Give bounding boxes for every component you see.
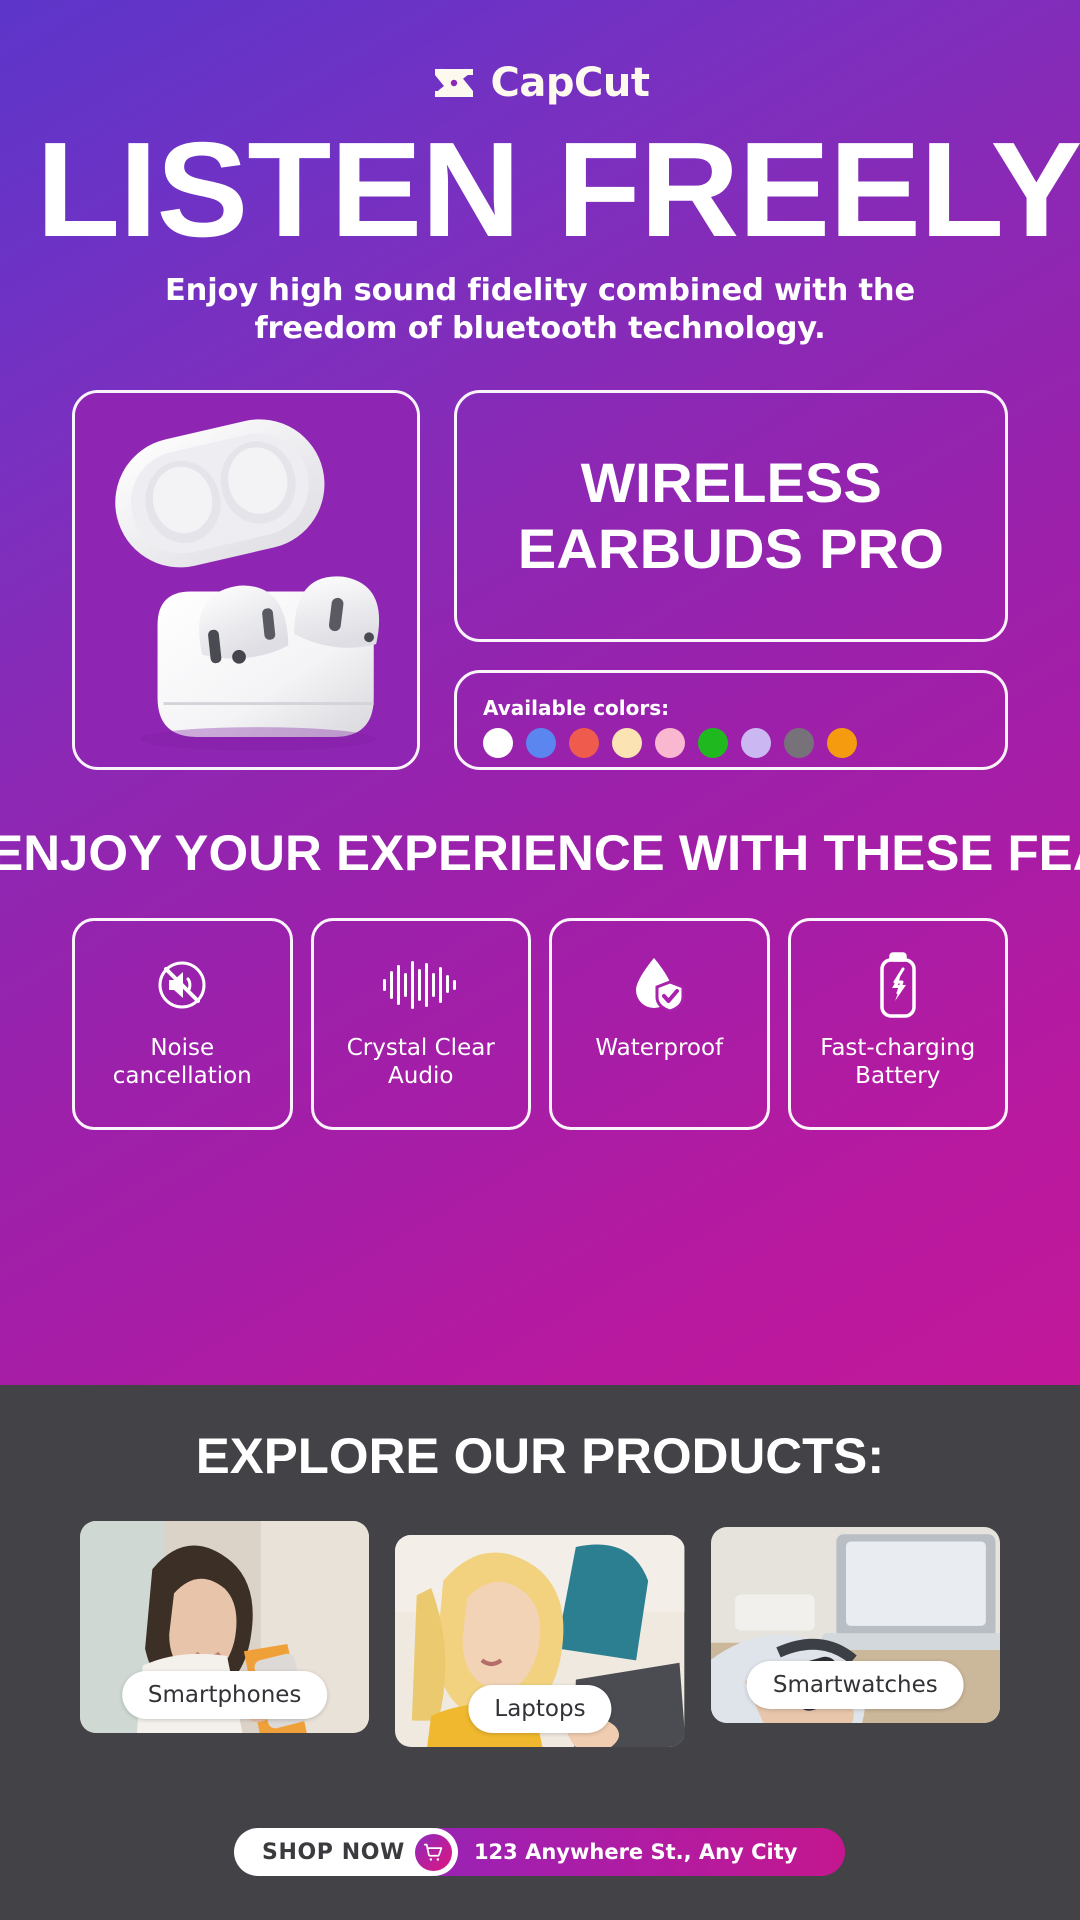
product-card-smartphones[interactable]: Smartphones bbox=[80, 1521, 369, 1733]
color-swatch-green[interactable] bbox=[698, 728, 728, 758]
shop-now-label: SHOP NOW bbox=[262, 1840, 405, 1865]
store-address: 123 Anywhere St., Any City bbox=[474, 1840, 798, 1864]
shopping-cart-icon bbox=[415, 1834, 452, 1871]
available-colors-card: Available colors: bbox=[454, 670, 1008, 770]
feature-card-0: Noisecancellation bbox=[72, 918, 293, 1130]
hero-subtitle: Enjoy high sound fidelity combined with … bbox=[160, 272, 920, 348]
product-title-line1: WIRELESS bbox=[580, 453, 881, 513]
water-drop-shield-icon bbox=[626, 951, 692, 1019]
features-title: ENJOY YOUR EXPERIENCE WITH THESE FEATURE… bbox=[0, 824, 1080, 882]
explore-section: EXPLORE OUR PRODUCTS: Smartphones Laptop… bbox=[0, 1385, 1080, 1920]
hero-section: CapCut LISTEN FREELY Enjoy high sound fi… bbox=[0, 0, 1080, 1385]
feature-label: Crystal ClearAudio bbox=[339, 1035, 503, 1090]
color-swatch-cream[interactable] bbox=[612, 728, 642, 758]
poster: CapCut LISTEN FREELY Enjoy high sound fi… bbox=[0, 0, 1080, 1920]
product-image-card bbox=[72, 390, 420, 770]
product-title-line2: EARBUDS PRO bbox=[518, 519, 944, 579]
product-card-smartwatches[interactable]: Smartwatches bbox=[711, 1527, 1000, 1723]
product-card-laptops[interactable]: Laptops bbox=[395, 1535, 684, 1747]
feature-label: Fast-chargingBattery bbox=[812, 1035, 983, 1090]
color-swatch-lavender[interactable] bbox=[741, 728, 771, 758]
shop-now-button[interactable]: SHOP NOW bbox=[234, 1828, 458, 1876]
audio-waveform-icon bbox=[381, 951, 461, 1019]
feature-card-2: Waterproof bbox=[549, 918, 770, 1130]
color-swatch-list bbox=[483, 728, 979, 758]
page-title: LISTEN FREELY bbox=[0, 132, 1080, 248]
muted-speaker-icon bbox=[150, 951, 214, 1019]
shop-now-bar[interactable]: SHOP NOW 123 Anywhere St., Any City bbox=[235, 1828, 845, 1876]
brand-name: CapCut bbox=[491, 60, 650, 106]
feature-label: Waterproof bbox=[587, 1035, 731, 1063]
available-colors-label: Available colors: bbox=[483, 696, 979, 720]
color-swatch-orange[interactable] bbox=[827, 728, 857, 758]
feature-card-3: Fast-chargingBattery bbox=[788, 918, 1009, 1130]
color-swatch-pink[interactable] bbox=[655, 728, 685, 758]
product-card-label: Smartwatches bbox=[747, 1661, 964, 1709]
product-card-label: Laptops bbox=[468, 1685, 611, 1733]
earbuds-photo bbox=[75, 393, 417, 766]
capcut-logo-icon bbox=[431, 63, 477, 103]
color-swatch-gray[interactable] bbox=[784, 728, 814, 758]
color-swatch-white[interactable] bbox=[483, 728, 513, 758]
battery-charging-icon bbox=[872, 951, 924, 1019]
color-swatch-coral[interactable] bbox=[569, 728, 599, 758]
features-list: Noisecancellation Crystal ClearAudio Wat… bbox=[0, 918, 1080, 1130]
brand-logo: CapCut bbox=[0, 0, 1080, 106]
explore-title: EXPLORE OUR PRODUCTS: bbox=[0, 1427, 1080, 1485]
product-title-card: WIRELESS EARBUDS PRO bbox=[454, 390, 1008, 642]
product-showcase: WIRELESS EARBUDS PRO Available colors: bbox=[0, 390, 1080, 770]
explore-products-list: Smartphones Laptops Smartwatches bbox=[0, 1521, 1080, 1747]
color-swatch-blue[interactable] bbox=[526, 728, 556, 758]
product-card-label: Smartphones bbox=[122, 1671, 328, 1719]
feature-card-1: Crystal ClearAudio bbox=[311, 918, 532, 1130]
feature-label: Noisecancellation bbox=[105, 1035, 260, 1090]
product-info-column: WIRELESS EARBUDS PRO Available colors: bbox=[454, 390, 1008, 770]
